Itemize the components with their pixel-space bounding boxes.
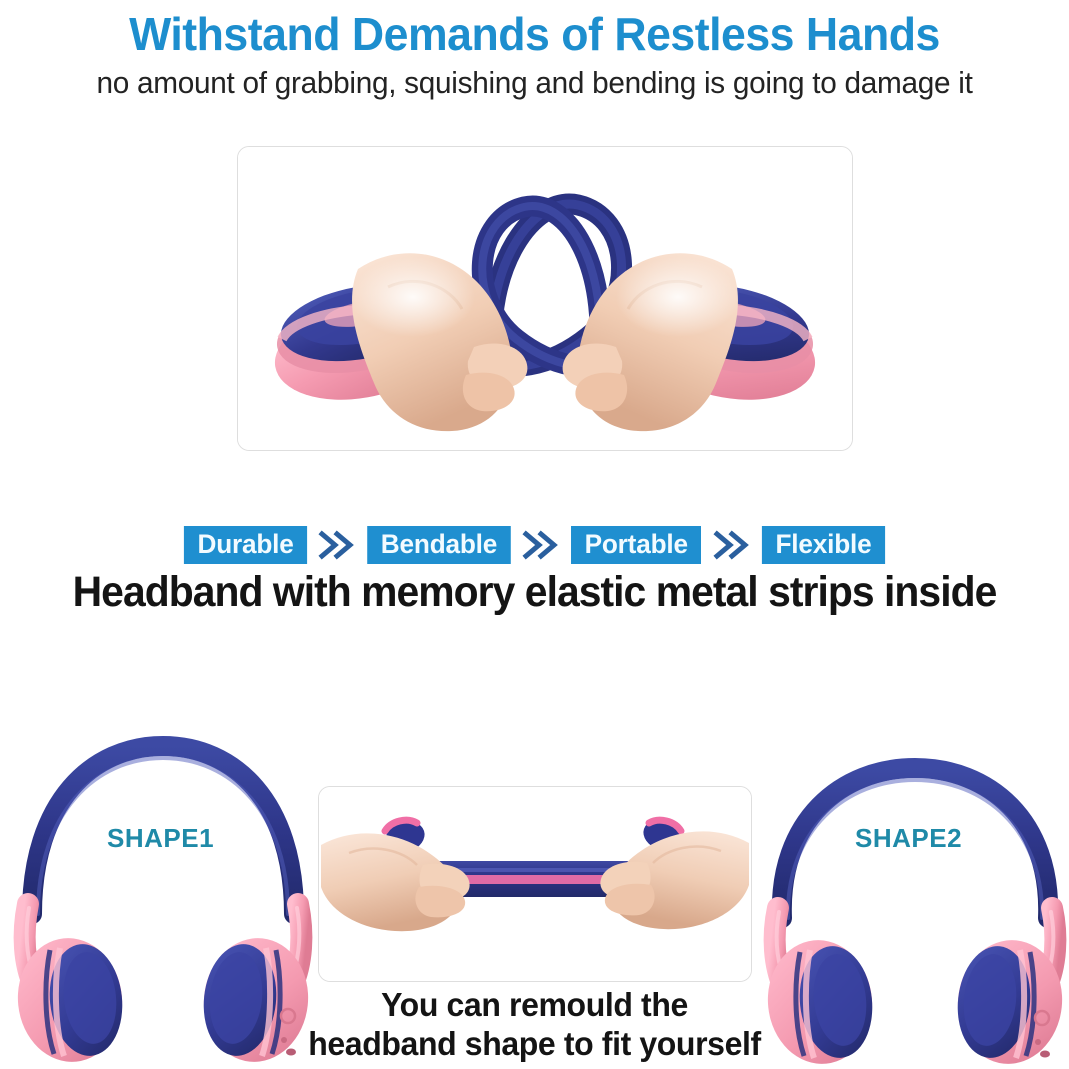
bottom-caption: You can remould the headband shape to fi… bbox=[0, 985, 1069, 1063]
section-title: Headband with memory elastic metal strip… bbox=[27, 567, 1043, 617]
caption-line-1: You can remould the bbox=[16, 985, 1053, 1024]
product-feature-page: Withstand Demands of Restless Hands no a… bbox=[0, 0, 1069, 1069]
badge-portable[interactable]: Portable bbox=[571, 526, 701, 564]
hands-flattening-headband-image bbox=[319, 787, 751, 981]
bend-photo-card bbox=[318, 786, 752, 982]
chevron-right-icon-1 bbox=[309, 530, 365, 560]
page-subheadline: no amount of grabbing, squishing and ben… bbox=[21, 64, 1047, 102]
caption-line-2: headband shape to fit yourself bbox=[16, 1024, 1053, 1063]
shape1-label: SHAPE1 bbox=[107, 823, 214, 854]
badge-bendable[interactable]: Bendable bbox=[368, 526, 511, 564]
shape2-label: SHAPE2 bbox=[855, 823, 962, 854]
badge-durable[interactable]: Durable bbox=[184, 526, 307, 564]
badge-flexible[interactable]: Flexible bbox=[762, 526, 885, 564]
chevron-right-icon-3 bbox=[704, 530, 760, 560]
hero-photo-card bbox=[237, 146, 853, 451]
hands-twisting-headband-image bbox=[238, 147, 852, 450]
page-headline: Withstand Demands of Restless Hands bbox=[16, 8, 1053, 60]
feature-badge-row: Durable Bendable Portable Flexible bbox=[0, 526, 1069, 564]
chevron-right-icon-2 bbox=[513, 530, 569, 560]
